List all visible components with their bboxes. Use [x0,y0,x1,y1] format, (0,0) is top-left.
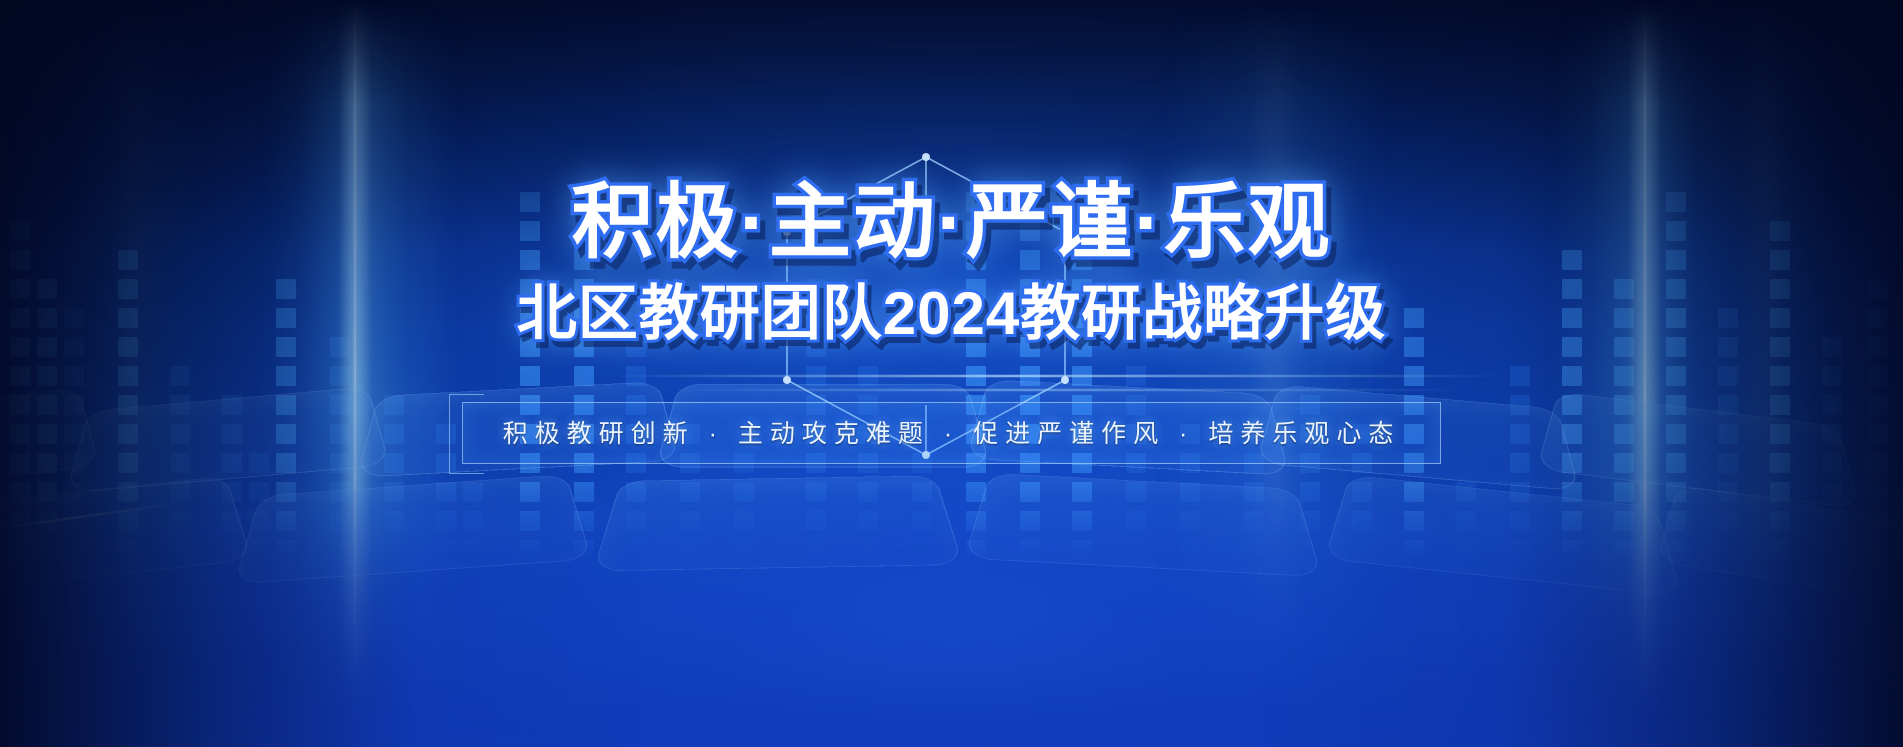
tagline-frame: 积极教研创新 · 主动攻克难题 · 促进严谨作风 · 培养乐观心态 [462,402,1442,464]
page-subtitle: 北区教研团队2024教研战略升级 [517,284,1386,344]
page-title: 积极·主动·严谨·乐观 [572,182,1332,264]
banner-content: 积极·主动·严谨·乐观 北区教研团队2024教研战略升级 积极教研创新 · 主动… [0,0,1903,747]
banner-stage: 积极·主动·严谨·乐观 北区教研团队2024教研战略升级 积极教研创新 · 主动… [0,0,1903,747]
tagline-text: 积极教研创新 · 主动攻克难题 · 促进严谨作风 · 培养乐观心态 [503,414,1401,450]
